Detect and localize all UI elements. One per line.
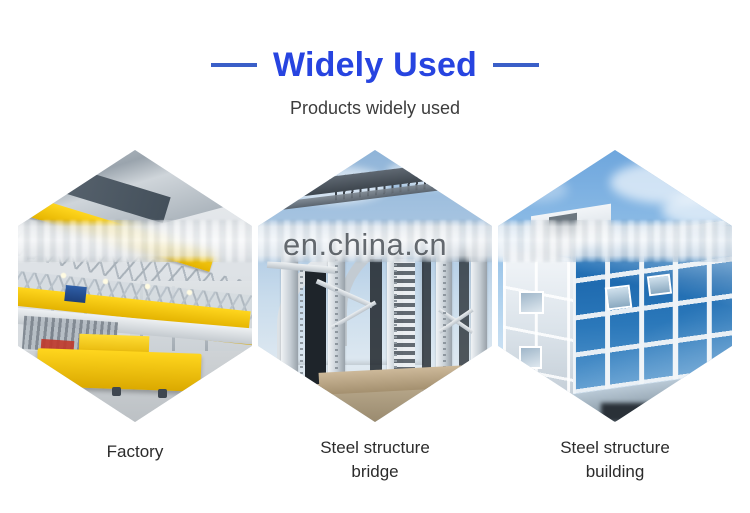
hex-image-factory[interactable] xyxy=(18,150,252,422)
left-rule-icon xyxy=(211,63,257,67)
right-rule-icon xyxy=(493,63,539,67)
factory-scene xyxy=(18,150,252,422)
page-title: Widely Used xyxy=(273,45,477,85)
gallery-caption-steel-bridge: Steel structure bridge xyxy=(250,436,500,484)
gallery-caption-steel-building: Steel structure building xyxy=(490,436,740,484)
hex-image-steel-bridge[interactable] xyxy=(258,150,492,422)
gallery-item-steel-bridge[interactable]: Steel structure bridge xyxy=(250,150,500,513)
caption-line-1: Steel structure xyxy=(490,436,740,460)
header: Widely Used Products widely used xyxy=(0,44,750,120)
gallery-caption-factory: Factory xyxy=(10,440,260,464)
gallery: Factory xyxy=(0,150,750,513)
gallery-item-steel-building[interactable]: Steel structure building xyxy=(490,150,740,513)
caption-line-1: Steel structure xyxy=(250,436,500,460)
page-subtitle: Products widely used xyxy=(0,96,750,120)
hex-image-steel-building[interactable] xyxy=(498,150,732,422)
steel-building-scene xyxy=(498,150,732,422)
gallery-item-factory[interactable]: Factory xyxy=(10,150,260,513)
title-row: Widely Used xyxy=(0,44,750,86)
caption-line-2: bridge xyxy=(250,460,500,484)
promo-banner: Widely Used Products widely used xyxy=(0,0,750,513)
caption-line-2: building xyxy=(490,460,740,484)
steel-bridge-scene xyxy=(258,150,492,422)
